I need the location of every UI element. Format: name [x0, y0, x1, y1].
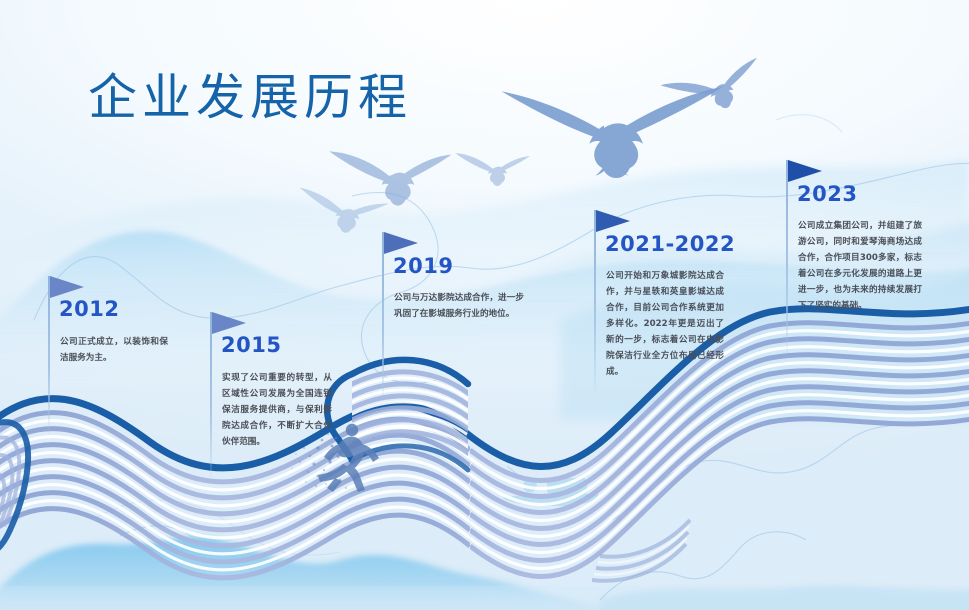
milestone-year: 2015 [221, 333, 281, 357]
flag-pole [594, 210, 596, 396]
milestone-year: 2019 [393, 254, 453, 278]
flag-icon [384, 232, 418, 254]
milestone-description: 公司与万达影院达成合作，进一步巩固了在影城服务行业的地位。 [394, 290, 524, 322]
flag-pole [210, 312, 212, 482]
milestone-description: 公司正式成立，以装饰和保洁服务为主。 [60, 334, 168, 366]
fishing-boat-silhouette [495, 458, 615, 520]
flag-pole [786, 160, 788, 360]
flag-icon [50, 276, 84, 298]
milestone-2023[interactable]: 2023 公司成立集团公司，并组建了旅游公司，同时和爱琴海商场达成合作，合作项目… [786, 160, 966, 390]
milestone-2012[interactable]: 2012 公司正式成立，以装饰和保洁服务为主。 [48, 276, 198, 456]
milestone-2021-2022[interactable]: 2021-2022 公司开始和万象城影院达成合作，并与星轶和英皇影城达成合作，目… [594, 210, 764, 430]
flag-pole [382, 232, 384, 404]
flag-icon [212, 312, 246, 334]
flag-icon [788, 160, 822, 182]
milestone-description: 公司成立集团公司，并组建了旅游公司，同时和爱琴海商场达成合作，合作项目300多家… [798, 218, 922, 314]
milestone-description: 实现了公司重要的转型，从区域性公司发展为全国连锁保洁服务提供商，与保利影院达成合… [222, 370, 332, 450]
milestone-2015[interactable]: 2015 实现了公司重要的转型，从区域性公司发展为全国连锁保洁服务提供商，与保利… [210, 312, 360, 512]
page-title: 企业发展历程 [88, 58, 412, 129]
timeline-poster: 2012 公司正式成立，以装饰和保洁服务为主。 2015 实现了公司重要的转型，… [0, 0, 969, 610]
milestone-year: 2012 [59, 297, 119, 321]
milestone-description: 公司开始和万象城影院达成合作，并与星轶和英皇影城达成合作，目前公司合作系统更加多… [606, 268, 724, 380]
milestone-year: 2021-2022 [605, 232, 735, 256]
flag-pole [48, 276, 50, 436]
milestone-year: 2023 [797, 182, 857, 206]
milestone-2019[interactable]: 2019 公司与万达影院达成合作，进一步巩固了在影城服务行业的地位。 [382, 232, 542, 432]
flag-icon [596, 210, 630, 232]
